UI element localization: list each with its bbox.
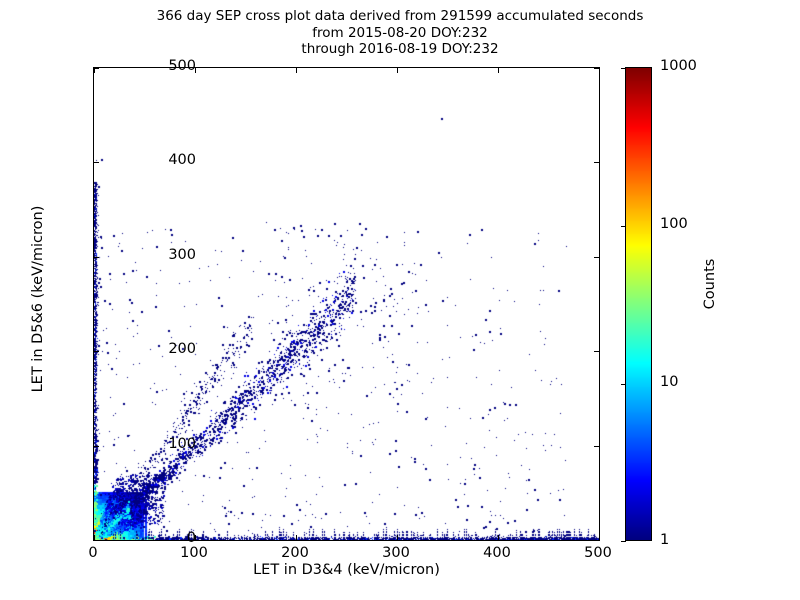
y-tick <box>594 351 599 352</box>
chart-title-line-2: from 2015-08-20 DOY:232 <box>0 25 800 42</box>
x-tick-label: 300 <box>356 545 436 561</box>
y-tick-label: 400 <box>126 152 196 168</box>
y-tick <box>94 351 99 352</box>
x-tick-label: 400 <box>457 545 537 561</box>
colorbar-tick-label: 10 <box>660 374 678 390</box>
x-tick-label: 200 <box>255 545 335 561</box>
colorbar-gradient <box>626 68 651 540</box>
y-tick-label: 0 <box>126 530 196 546</box>
colorbar-tick <box>621 226 626 227</box>
x-tick <box>498 68 499 73</box>
colorbar-tick-label: 1000 <box>660 58 697 74</box>
chart-title-line-3: through 2016-08-19 DOY:232 <box>0 41 800 58</box>
colorbar-tick <box>621 541 626 542</box>
colorbar-tick <box>621 68 626 69</box>
x-tick <box>397 535 398 540</box>
x-tick-label: 0 <box>53 545 133 561</box>
y-tick-label: 200 <box>126 341 196 357</box>
x-tick <box>498 535 499 540</box>
colorbar-title: Counts <box>702 194 718 374</box>
x-tick-label: 100 <box>154 545 234 561</box>
y-tick-label: 300 <box>126 247 196 263</box>
x-axis-title: LET in D3&4 (keV/micron) <box>93 562 600 578</box>
y-tick <box>594 162 599 163</box>
y-tick <box>94 162 99 163</box>
x-tick <box>296 535 297 540</box>
colorbar-tick-label: 1 <box>660 532 669 548</box>
y-tick <box>94 540 99 541</box>
chart-title: 366 day SEP cross plot data derived from… <box>0 8 800 58</box>
x-tick <box>296 68 297 73</box>
y-axis-title: LET in D5&6 (keV/micron) <box>30 99 46 499</box>
x-tick <box>397 68 398 73</box>
plot-area <box>93 67 600 541</box>
y-tick <box>594 446 599 447</box>
x-tick <box>94 68 95 73</box>
colorbar-tick-label: 100 <box>660 216 688 232</box>
y-tick-label: 500 <box>126 58 196 74</box>
x-tick <box>94 535 95 540</box>
y-tick <box>94 257 99 258</box>
colorbar <box>625 67 652 541</box>
chart-title-line-1: 366 day SEP cross plot data derived from… <box>0 8 800 25</box>
figure-canvas: 366 day SEP cross plot data derived from… <box>0 0 800 600</box>
y-tick <box>94 446 99 447</box>
y-tick <box>594 257 599 258</box>
scatter-data-layer <box>94 68 599 540</box>
y-tick <box>594 540 599 541</box>
x-tick-label: 500 <box>558 545 638 561</box>
colorbar-tick <box>621 384 626 385</box>
x-tick <box>599 535 600 540</box>
y-tick-label: 100 <box>126 436 196 452</box>
x-tick <box>599 68 600 73</box>
